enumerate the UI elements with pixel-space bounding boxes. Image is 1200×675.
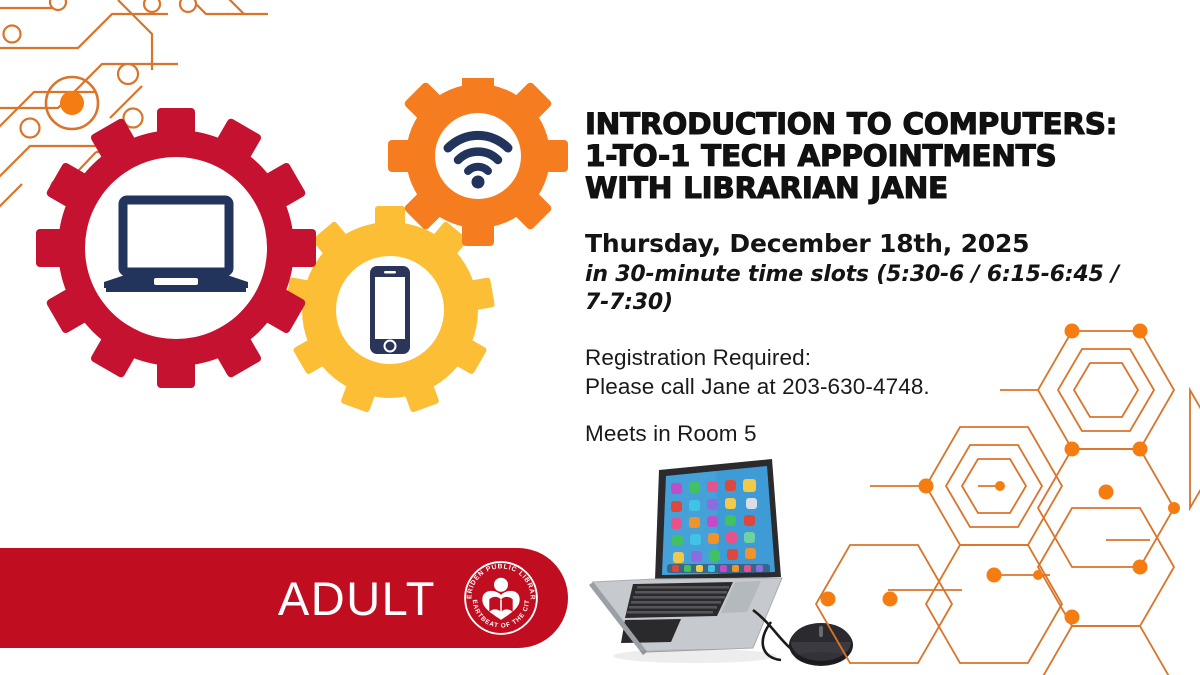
- smartphone-icon: [370, 266, 410, 354]
- audience-banner: ADULT MERIDEN PUBLIC LIBRARY HEARTBEAT O…: [0, 548, 568, 648]
- title-line-2: 1-TO-1 TECH APPOINTMENTS: [585, 140, 1155, 172]
- title-line-3: WITH LIBRARIAN JANE: [585, 172, 1155, 204]
- registration-heading: Registration Required:: [585, 343, 1155, 372]
- title-line-1: INTRODUCTION TO COMPUTERS:: [585, 108, 1155, 140]
- event-time-slots: in 30-minute time slots (5:30-6 / 6:15-6…: [585, 261, 1137, 317]
- gears-illustration: [26, 78, 586, 428]
- computer-mouse-icon: [789, 623, 853, 666]
- schedule-block: Thursday, December 18th, 2025 in 30-minu…: [585, 229, 1155, 317]
- wifi-gear: [388, 78, 568, 246]
- library-logo: MERIDEN PUBLIC LIBRARY HEARTBEAT OF THE …: [462, 559, 540, 637]
- event-location: Meets in Room 5: [585, 419, 1155, 448]
- event-date: Thursday, December 18th, 2025: [585, 229, 1155, 259]
- laptop-gear: [36, 108, 316, 388]
- registration-block: Registration Required: Please call Jane …: [585, 343, 1155, 448]
- event-flyer: INTRODUCTION TO COMPUTERS: 1-TO-1 TECH A…: [0, 0, 1200, 675]
- registration-instruction: Please call Jane at 203-630-4748.: [585, 372, 1155, 401]
- audience-label: ADULT: [278, 575, 436, 622]
- laptop-with-mouse-photo: [585, 452, 875, 674]
- event-text-column: INTRODUCTION TO COMPUTERS: 1-TO-1 TECH A…: [585, 108, 1155, 448]
- page-title: INTRODUCTION TO COMPUTERS: 1-TO-1 TECH A…: [585, 108, 1155, 204]
- person-reading-book-icon: [482, 578, 519, 620]
